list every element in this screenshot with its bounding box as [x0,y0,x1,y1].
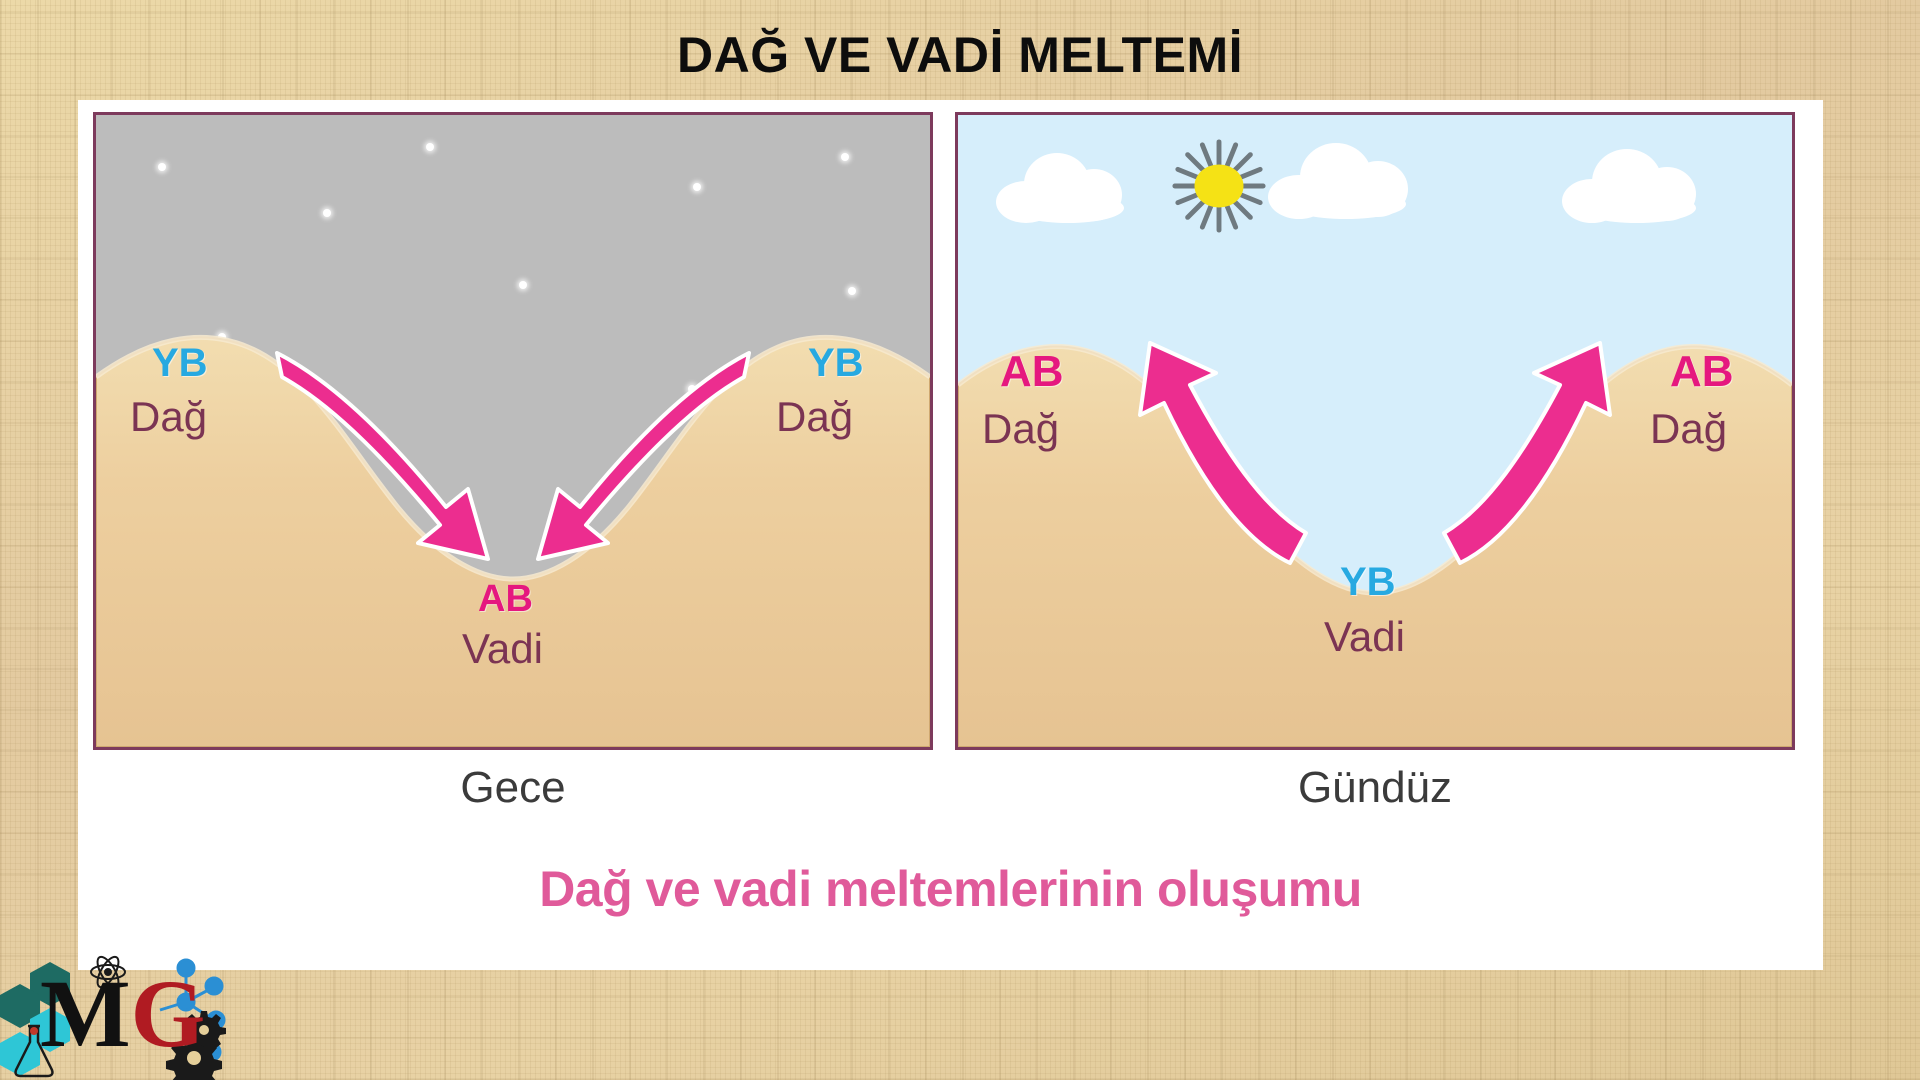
panel-night: YB YB Dağ Dağ AB Vadi [93,112,933,750]
label-ab-right: AB [1670,347,1734,397]
label-valley: Vadi [1324,613,1405,661]
label-mountain-right: Dağ [1650,405,1727,453]
label-ab-left: AB [1000,347,1064,397]
label-yb-left: YB [152,341,208,386]
logo-letter-g: G [131,960,206,1067]
figure-card: YB YB Dağ Dağ AB Vadi [78,100,1823,970]
page-title: DAĞ VE VADİ MELTEMİ [0,26,1920,84]
label-yb-valley: YB [1340,560,1396,605]
label-mountain-left: Dağ [982,405,1059,453]
logo-text: MG [40,966,205,1062]
caption-day: Gündüz [955,763,1795,813]
logo-letter-m: M [40,960,131,1067]
slide-canvas: DAĞ VE VADİ MELTEMİ [0,0,1920,1080]
figure-caption: Dağ ve vadi meltemlerinin oluşumu [78,860,1823,918]
flask-drop-icon [30,1027,38,1035]
label-mountain-right: Dağ [776,393,853,441]
panel-day: AB AB Dağ Dağ YB Vadi [955,112,1795,750]
logo: MG [0,952,240,1080]
label-mountain-left: Dağ [130,393,207,441]
caption-night: Gece [93,763,933,813]
label-valley: Vadi [462,625,543,673]
label-ab-valley: AB [478,578,533,621]
label-yb-right: YB [808,341,864,386]
